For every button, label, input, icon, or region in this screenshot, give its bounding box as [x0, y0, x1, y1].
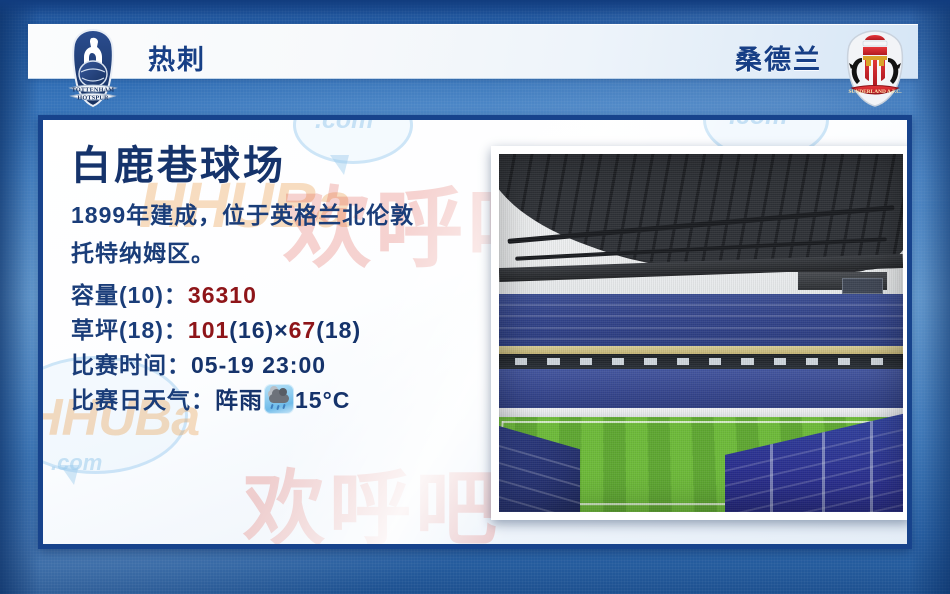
match-time-separator: ：	[167, 352, 191, 378]
stadium-description-line-2: 托特纳姆区。	[71, 236, 491, 270]
home-team-name: 热刺	[148, 38, 206, 77]
capacity-label: 容量(10)	[71, 282, 164, 308]
pitch-times-symbol: ×	[274, 317, 288, 343]
match-weather-row: 比赛日天气：阵雨 15°C	[71, 383, 491, 418]
sunderland-afc-crest-icon: SUNDERLAND A.F.C.	[838, 28, 912, 108]
match-time-row: 比赛时间：05-19 23:00	[71, 348, 491, 383]
stadium-photo-frame	[491, 146, 911, 520]
stadium-title: 白鹿巷球场	[71, 144, 491, 188]
crest-banner-text: SUNDERLAND A.F.C.	[848, 89, 902, 95]
match-time-label: 比赛时间	[71, 352, 167, 378]
away-team-name: 桑德兰	[735, 38, 822, 77]
stadium-pitch-row: 草坪(18)：101(16)×67(18)	[71, 313, 491, 348]
capacity-separator: ：	[164, 282, 188, 308]
watermark-domain-2: .com	[729, 115, 787, 131]
pitch-width-paren: (18)	[316, 317, 361, 343]
match-header: TOTTENHAM HOTSPUR 热刺 桑德兰	[0, 14, 950, 106]
crest-scroll-top: TOTTENHAM	[72, 87, 115, 94]
watermark-brand-cn-2: 欢呼吧	[243, 442, 501, 549]
pitch-length-value: 101	[188, 317, 229, 343]
watermark-domain-4: .com	[51, 450, 102, 476]
pitch-width-value: 67	[289, 317, 317, 343]
watermark-domain-1: .com	[315, 115, 373, 135]
pitch-separator: ：	[164, 317, 188, 343]
pitch-length-paren: (16)	[229, 317, 274, 343]
tottenham-hotspur-crest-icon: TOTTENHAM HOTSPUR	[62, 28, 124, 108]
stadium-info-card: .com .com HHUBa HHUBa .com HHUBa .com 欢呼…	[38, 115, 912, 549]
weather-separator: ：	[191, 387, 215, 413]
pitch-label: 草坪(18)	[71, 317, 164, 343]
crest-scroll-bottom: HOTSPUR	[77, 95, 109, 102]
photo-vignette	[499, 154, 903, 512]
weather-label: 比赛日天气	[71, 387, 191, 413]
stadium-info-column: 白鹿巷球场 1899年建成，位于英格兰北伦敦 托特纳姆区。 容量(10)：363…	[71, 144, 491, 418]
stadium-photo	[499, 154, 903, 512]
rain-shower-icon	[264, 384, 294, 414]
weather-temperature: 15°C	[295, 387, 350, 413]
weather-condition: 阵雨	[215, 387, 263, 413]
stadium-capacity-row: 容量(10)：36310	[71, 278, 491, 313]
capacity-value: 36310	[188, 282, 257, 308]
stadium-description-line-1: 1899年建成，位于英格兰北伦敦	[71, 198, 491, 232]
match-time-value: 05-19 23:00	[191, 352, 326, 378]
